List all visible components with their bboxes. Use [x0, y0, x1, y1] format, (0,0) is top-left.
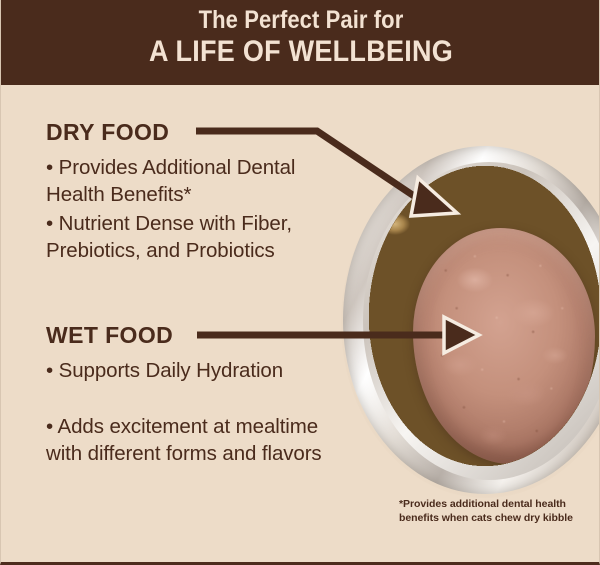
wet-food-heading: WET FOOD: [46, 322, 173, 349]
header-title-line2: A LIFE OF WELLBEING: [31, 34, 571, 69]
dry-food-heading: DRY FOOD: [46, 119, 169, 146]
infographic-poster: The Perfect Pair for A LIFE OF WELLBEING…: [0, 0, 600, 565]
footnote-text: *Provides additional dental health benef…: [399, 498, 599, 525]
wet-food-bullet-1: • Supports Daily Hydration: [46, 357, 346, 384]
wet-food-bullet-2: • Adds excitement at mealtime with diffe…: [46, 413, 346, 467]
dry-food-bullet-2: • Nutrient Dense with Fiber, Prebiotics,…: [46, 210, 346, 264]
dry-food-bullet-1: • Provides Additional Dental Health Bene…: [46, 154, 346, 208]
bowl-interior: [369, 166, 600, 466]
pet-food-bowl-image: [339, 142, 600, 506]
header-title-line1: The Perfect Pair for: [37, 0, 565, 34]
header-banner: The Perfect Pair for A LIFE OF WELLBEING: [1, 0, 600, 85]
